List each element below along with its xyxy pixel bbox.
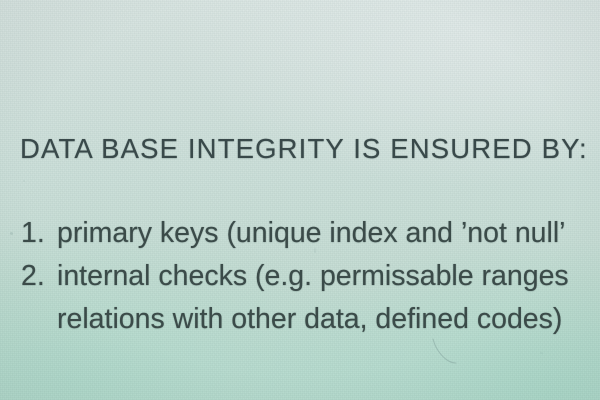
lecture-slide-photograph: DATA BASE INTEGRITY IS ENSURED BY: 1. pr… — [0, 0, 600, 400]
slide-content: DATA BASE INTEGRITY IS ENSURED BY: 1. pr… — [0, 0, 600, 400]
list-item-marker: 1. — [21, 212, 45, 255]
slide-title: DATA BASE INTEGRITY IS ENSURED BY: — [20, 133, 588, 165]
list-item-text: primary keys (unique index and ’not null… — [57, 212, 566, 255]
list-item: 1. primary keys (unique index and ’not n… — [0, 212, 600, 255]
list-item-continuation: relations with other data, defined codes… — [0, 298, 600, 341]
numbered-list: 1. primary keys (unique index and ’not n… — [0, 212, 600, 341]
list-item-marker: 2. — [21, 255, 45, 298]
list-item-text: internal checks (e.g. permissable ranges — [57, 255, 569, 298]
list-item: 2. internal checks (e.g. permissable ran… — [0, 255, 600, 298]
list-item-continuation-text: relations with other data, defined codes… — [57, 298, 562, 341]
